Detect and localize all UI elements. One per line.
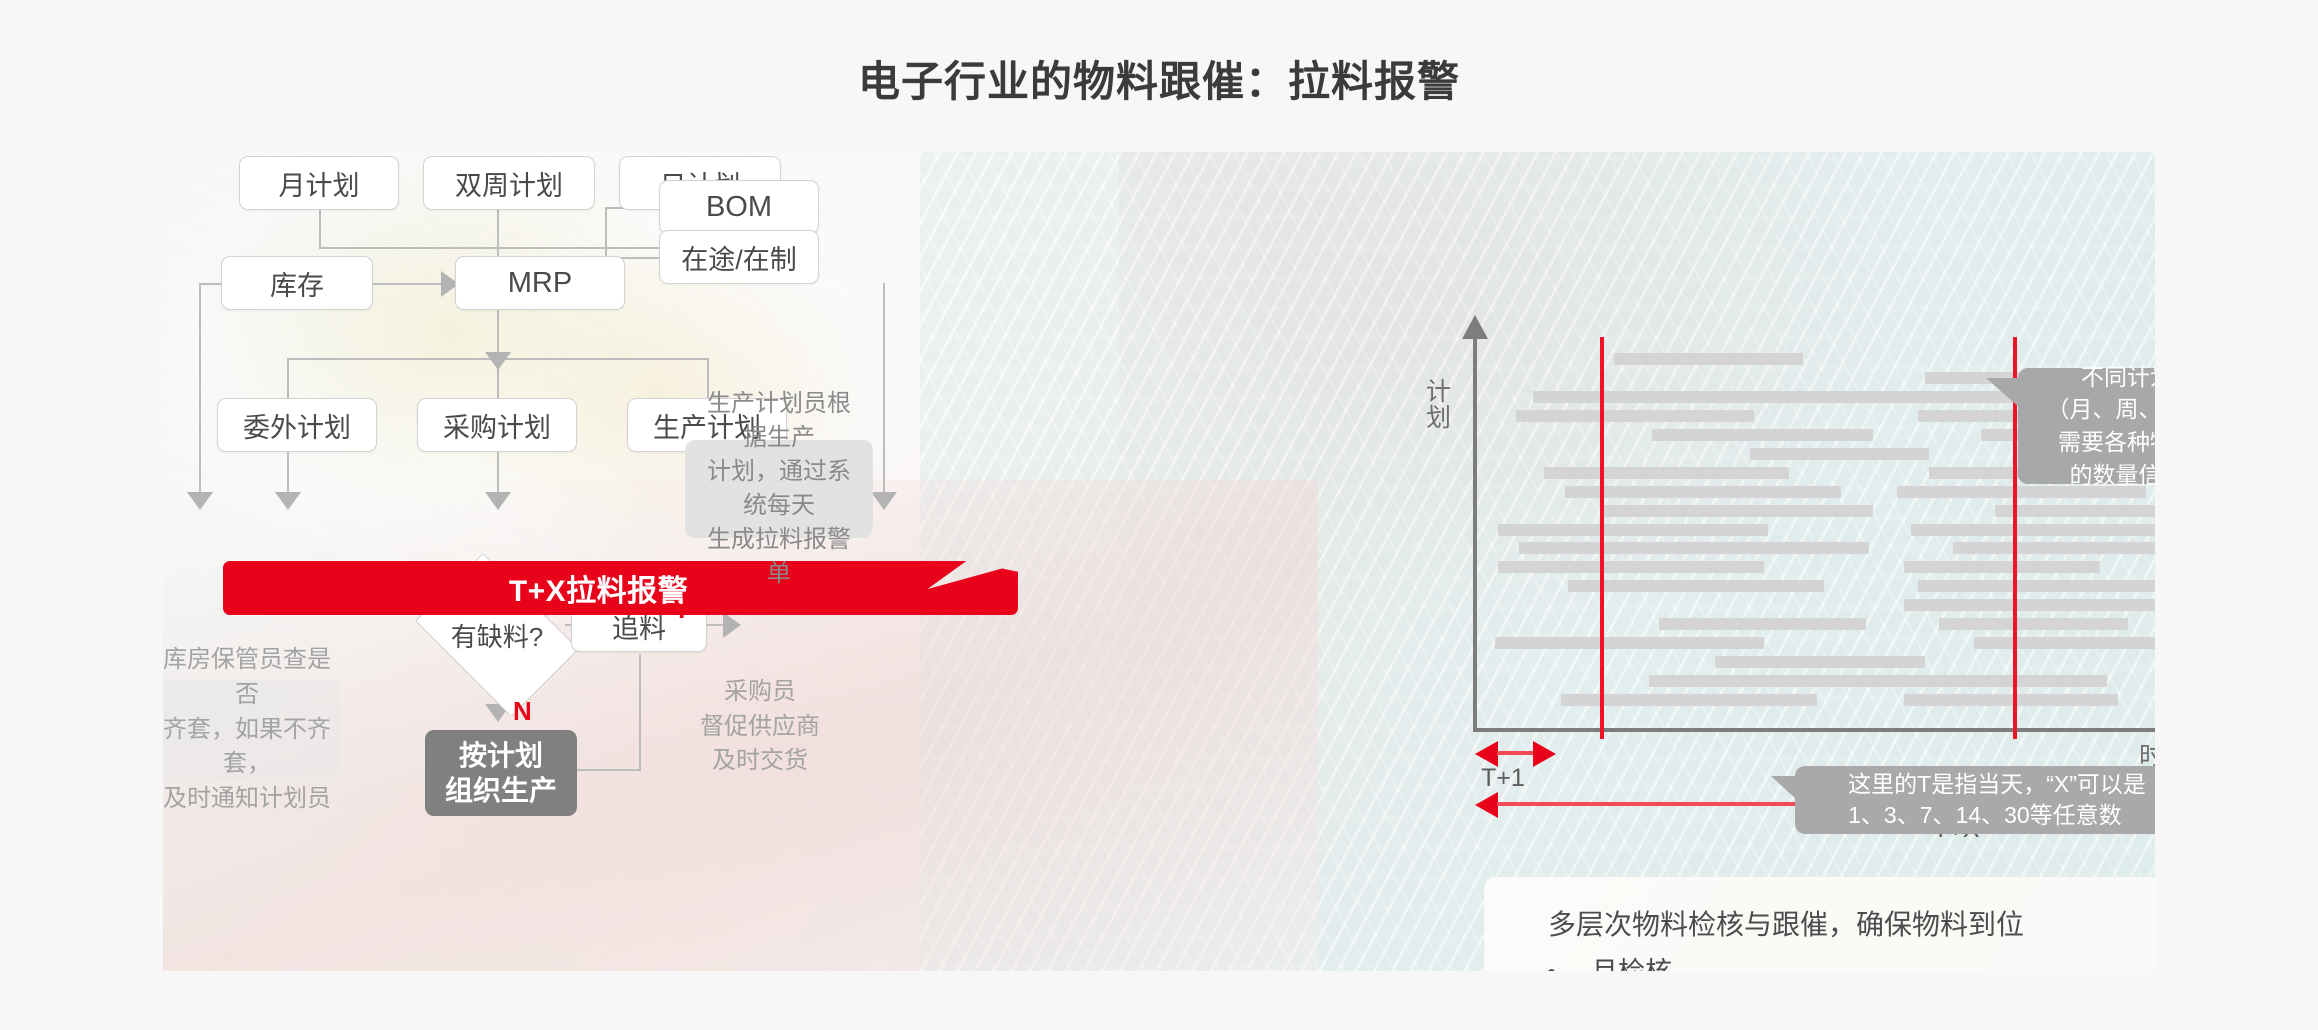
- branch-label-no: N: [513, 696, 532, 727]
- gantt-bar: [1995, 505, 2155, 517]
- note-text: 采购员 督促供应商 及时交货: [700, 675, 820, 779]
- gantt-bar: [1974, 637, 2155, 649]
- gantt-bar: [2037, 599, 2155, 611]
- arrow-icon: [723, 612, 741, 638]
- gantt-bar: [1498, 524, 1768, 536]
- summary-list: 月检核双周检核物料按周确认: [1548, 957, 2155, 971]
- marker-line-Tplus1: [1600, 337, 1604, 739]
- gantt-bar: [1603, 505, 1873, 517]
- gantt-bar: [1659, 618, 1866, 630]
- flow-box-mrp[interactable]: MRP: [455, 256, 625, 310]
- summary-heading: 多层次物料检核与跟催，确保物料到位: [1548, 903, 2155, 943]
- arrow-icon: [485, 492, 511, 510]
- arrow-icon: [871, 492, 897, 510]
- gantt-bar: [1495, 637, 1765, 649]
- flow-box-biweekly-plan[interactable]: 双周计划: [423, 156, 595, 210]
- gantt-bar: [1614, 353, 1803, 365]
- y-axis: [1473, 337, 1477, 732]
- alert-banner[interactable]: T+X拉料报警: [223, 561, 1018, 615]
- gantt-bar: [1498, 561, 1764, 573]
- gantt-bar: [1750, 448, 1929, 460]
- branch-label-yes: Y: [673, 594, 690, 625]
- flow-box-label: 库存: [270, 264, 324, 303]
- callout-text: 这里的T是指当天，“X”可以是 1、3、7、14、30等任意数: [1848, 769, 2146, 831]
- gantt-bar: [1516, 410, 1754, 422]
- flow-box-label: BOM: [706, 191, 772, 224]
- arrow-icon: [275, 492, 301, 510]
- connector: [497, 210, 499, 262]
- gantt-bar: [1568, 580, 1824, 592]
- y-axis-arrow-icon: [1462, 315, 1488, 339]
- arrow-icon: [1533, 741, 1556, 767]
- slide-root: 电子行业的物料跟催：拉料报警: [0, 0, 2318, 1030]
- note-text: 库房保管员查是否 齐套，如果不齐套， 及时通知计划员: [163, 643, 340, 817]
- gantt-bar: [1519, 542, 1869, 554]
- flow-box-outsourcing-plan[interactable]: 委外计划: [217, 398, 377, 452]
- callout-tail: [1986, 378, 2020, 408]
- connector: [199, 283, 201, 498]
- x-axis: [1473, 728, 2155, 732]
- flow-box-label: 采购计划: [443, 406, 551, 445]
- note-buyer: 采购员 督促供应商 及时交货: [675, 672, 845, 782]
- flow-box-monthly-plan[interactable]: 月计划: [239, 156, 399, 210]
- gantt-bar: [1939, 618, 2128, 630]
- callout-tail: [1771, 776, 1797, 800]
- gantt-bar: [1904, 694, 2118, 706]
- flow-box-purchase-plan[interactable]: 采购计划: [417, 398, 577, 452]
- summary-list-item: 月检核: [1548, 957, 2155, 971]
- flow-box-label: 月计划: [279, 164, 360, 203]
- gantt-bar: [1715, 656, 1925, 668]
- gantt-bar: [1953, 542, 2155, 554]
- bullet-icon: [1548, 969, 1555, 971]
- flow-box-label: 委外计划: [243, 406, 351, 445]
- gantt-bar: [1918, 580, 2155, 592]
- produce-line-1: 按计划: [459, 738, 543, 773]
- gantt-bar: [1565, 486, 1842, 498]
- callout-t-definition: 这里的T是指当天，“X”可以是 1、3、7、14、30等任意数: [1795, 766, 2155, 834]
- flow-box-wip[interactable]: 在途/在制: [659, 230, 819, 284]
- callout-plan-quantity: 不同计划 （月、周、日） 需要各种物料 的数量信息: [2018, 368, 2155, 484]
- flow-box-label: 双周计划: [455, 164, 563, 203]
- measure-line-t1: [1497, 751, 1535, 755]
- measure-label-t1: T+1: [1481, 764, 1525, 793]
- flow-box-produce-by-plan[interactable]: 按计划 组织生产: [425, 730, 577, 816]
- page-title: 电子行业的物料跟催：拉料报警: [0, 48, 2318, 109]
- gantt-bar: [1911, 524, 2155, 536]
- connector: [199, 283, 221, 285]
- produce-line-2: 组织生产: [445, 773, 557, 808]
- gantt-bar: [1862, 675, 2107, 687]
- note-text: 生产计划员根据生产 计划，通过系统每天 生成拉料报警单: [699, 387, 859, 591]
- connector: [883, 283, 885, 498]
- connector: [287, 450, 289, 498]
- note-warehouse-keeper: 库房保管员查是否 齐套，如果不齐套， 及时通知计划员: [163, 680, 340, 780]
- flow-box-label: 在途/在制: [681, 238, 797, 277]
- arrow-icon: [1475, 792, 1498, 818]
- connector: [319, 210, 321, 248]
- callout-text: 不同计划 （月、周、日） 需要各种物料 的数量信息: [2047, 361, 2156, 492]
- gantt-bar: [1904, 561, 2100, 573]
- flow-box-bom[interactable]: BOM: [659, 180, 819, 234]
- gantt-bar: [1649, 675, 1873, 687]
- connector: [287, 358, 289, 402]
- gantt-bar: [1544, 467, 1789, 479]
- arrow-icon: [187, 492, 213, 510]
- y-axis-label: 计划: [1426, 379, 1450, 432]
- connector: [639, 654, 641, 770]
- note-production-planner: 生产计划员根据生产 计划，通过系统每天 生成拉料报警单: [685, 440, 873, 538]
- connector: [497, 450, 499, 498]
- summary-card: 多层次物料检核与跟催，确保物料到位 月检核双周检核物料按周确认: [1484, 877, 2155, 971]
- banner-label: T+X拉料报警: [223, 561, 1018, 615]
- summary-item-label: 月检核: [1591, 957, 1672, 971]
- flow-box-inventory[interactable]: 库存: [221, 256, 373, 310]
- gantt-bar: [1652, 429, 1873, 441]
- flow-box-label: MRP: [508, 267, 572, 300]
- arrow-icon: [485, 352, 511, 370]
